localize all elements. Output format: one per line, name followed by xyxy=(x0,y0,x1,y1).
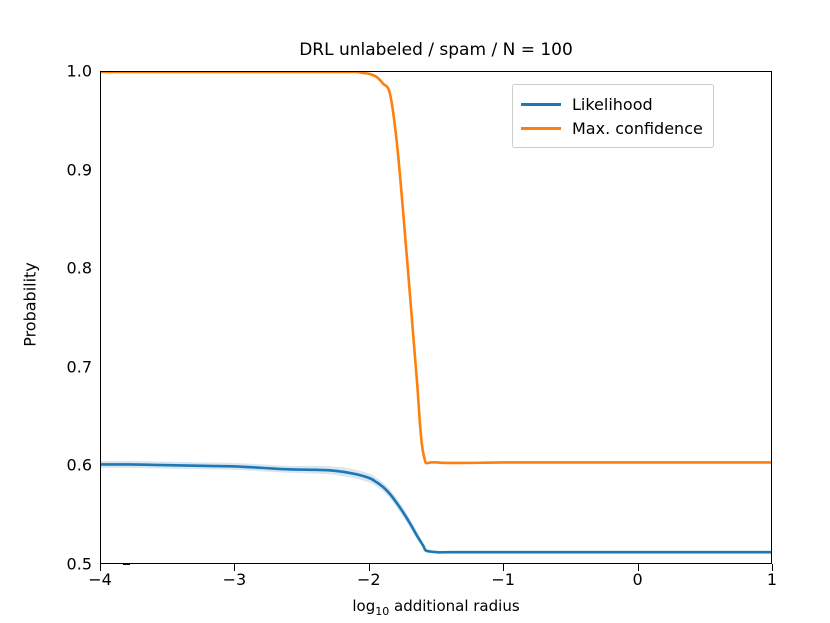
chart-title: DRL unlabeled / spam / N = 100 xyxy=(100,40,772,60)
legend-label-likelihood: Likelihood xyxy=(572,95,653,114)
chart-legend: Likelihood Max. confidence xyxy=(512,84,714,148)
x-tick-mark xyxy=(100,564,101,571)
x-tick-mark xyxy=(772,564,773,571)
x-axis-label-suffix: additional radius xyxy=(389,597,519,615)
x-axis-label: log10 additional radius xyxy=(100,597,772,618)
y-axis-ticks: 0.50.60.70.80.91.0 xyxy=(30,0,92,623)
x-tick-label: −2 xyxy=(339,570,399,589)
legend-item-likelihood[interactable]: Likelihood xyxy=(521,92,703,116)
x-tick-label: 1 xyxy=(742,570,802,589)
legend-swatch-likelihood xyxy=(521,103,561,106)
x-tick-label: −1 xyxy=(473,570,533,589)
x-tick-mark xyxy=(638,564,639,571)
y-tick-label: 0.6 xyxy=(40,456,92,475)
x-tick-label: −3 xyxy=(204,570,264,589)
chart-figure: DRL unlabeled / spam / N = 100 Probabili… xyxy=(0,0,830,623)
legend-label-max-confidence: Max. confidence xyxy=(572,119,703,138)
y-tick-label: 1.0 xyxy=(40,62,92,81)
y-tick-label: 0.9 xyxy=(40,160,92,179)
legend-swatch-max-confidence xyxy=(521,127,561,130)
x-axis-label-subscript: 10 xyxy=(375,605,389,618)
y-tick-label: 0.8 xyxy=(40,259,92,278)
legend-item-max-confidence[interactable]: Max. confidence xyxy=(521,116,703,140)
x-tick-mark xyxy=(234,564,235,571)
x-tick-label: −4 xyxy=(70,570,130,589)
likelihood-line xyxy=(101,464,772,552)
x-tick-label: 0 xyxy=(608,570,668,589)
y-tick-label: 0.7 xyxy=(40,357,92,376)
x-axis-label-prefix: log xyxy=(352,597,375,615)
x-tick-mark xyxy=(503,564,504,571)
likelihood-confidence-band xyxy=(101,461,772,554)
x-tick-mark xyxy=(369,564,370,571)
y-tick-mark xyxy=(123,564,130,565)
